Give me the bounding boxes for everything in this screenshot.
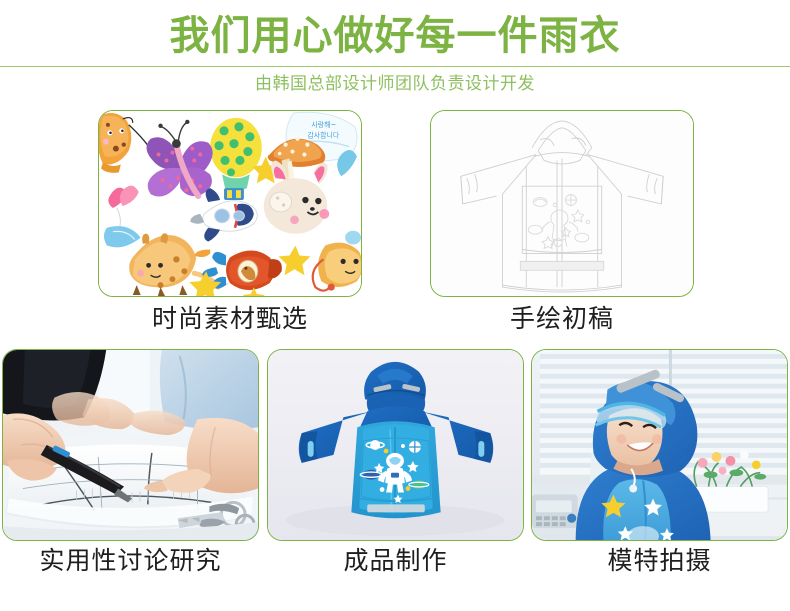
hand-drawn-raincoat-sketch-photo xyxy=(431,111,693,296)
title-divider xyxy=(0,66,790,67)
photo-frame-sketch xyxy=(430,110,694,297)
banner-header: 我们用心做好每一件雨衣 由韩国总部设计师团队负责设计开发 xyxy=(0,0,790,100)
page-subtitle: 由韩国总部设计师团队负责设计开发 xyxy=(0,72,790,96)
finished-blue-raincoat-photo xyxy=(268,350,523,540)
svg-text:감사합니다: 감사합니다 xyxy=(307,131,340,140)
caption-discussion: 实用性讨论研究 xyxy=(2,544,259,578)
photo-frame-product xyxy=(267,349,524,541)
product-detail-banner: 我们用心做好每一件雨衣 由韩国总部设计师团队负责设计开发 사랑해~ 감사합니다 xyxy=(0,0,790,611)
design-discussion-blueprint-photo xyxy=(3,350,258,540)
caption-material: 时尚素材甄选 xyxy=(98,302,362,336)
fashion-material-stickers-photo: 사랑해~ 감사합니다 xyxy=(99,111,361,296)
svg-text:사랑해~: 사랑해~ xyxy=(311,120,336,129)
caption-model: 模特拍摄 xyxy=(531,544,788,578)
photo-frame-model xyxy=(531,349,788,541)
page-title: 我们用心做好每一件雨衣 xyxy=(0,12,790,60)
photo-frame-material: 사랑해~ 감사합니다 xyxy=(98,110,362,297)
photo-frame-discussion xyxy=(2,349,259,541)
child-model-wearing-raincoat-photo xyxy=(532,350,787,540)
caption-sketch: 手绘初稿 xyxy=(430,302,694,336)
caption-product: 成品制作 xyxy=(267,544,524,578)
